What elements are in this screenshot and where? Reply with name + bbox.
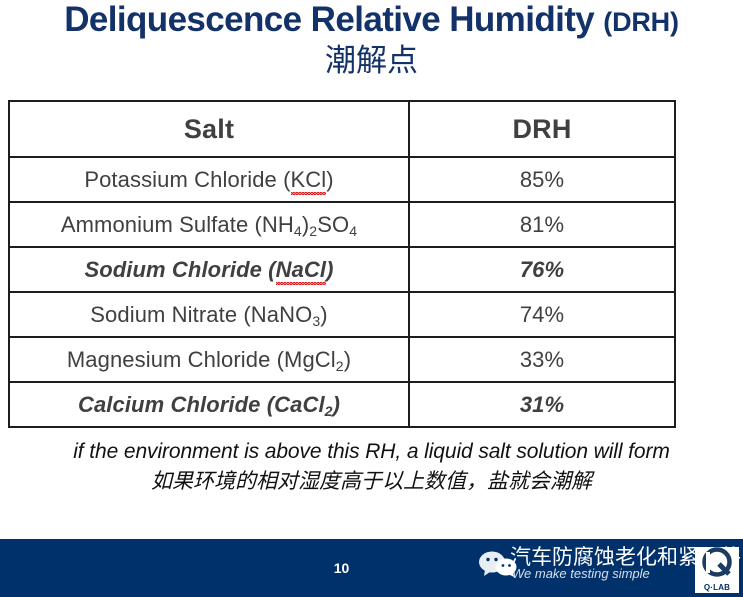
title-block: Deliquescence Relative Humidity (DRH) 潮解… [0, 0, 743, 80]
footer-bar: 10 汽车防腐蚀老化和紧固件 We make testing simple [0, 539, 743, 597]
qlab-logo: Q·LAB [695, 547, 739, 593]
footer-brand: 汽车防腐蚀老化和紧固件 We make testing simple Q·LAB [476, 539, 743, 597]
cell-salt-name: Sodium Chloride (NaCl) [9, 247, 409, 292]
salt-name-text: Potassium Chloride ( [84, 167, 290, 192]
column-header-drh: DRH [409, 101, 675, 157]
table-row: Ammonium Sulfate (NH4)2SO4 81% [9, 202, 675, 247]
salt-name-text: Sodium Chloride ( [84, 257, 275, 282]
caption-english: if the environment is above this RH, a l… [0, 438, 743, 466]
page-title: Deliquescence Relative Humidity (DRH) [0, 0, 743, 42]
cell-salt-name: Potassium Chloride (KCl) [9, 157, 409, 202]
salt-name-suffix: ) [333, 392, 340, 417]
subscript: 2 [325, 402, 333, 418]
salt-name-text: Calcium Chloride (CaCl [78, 392, 325, 417]
salt-name-text: Sodium Nitrate (NaNO [90, 302, 312, 327]
table-row: Potassium Chloride (KCl) 85% [9, 157, 675, 202]
brand-tagline: We make testing simple [512, 567, 650, 581]
salt-name-suffix: ) [344, 347, 351, 372]
table-row: Magnesium Chloride (MgCl2) 33% [9, 337, 675, 382]
page-title-main: Deliquescence Relative Humidity [64, 0, 603, 39]
table-row: Sodium Nitrate (NaNO3) 74% [9, 292, 675, 337]
page-title-abbreviation: (DRH) [603, 7, 678, 37]
page-subtitle-chinese: 潮解点 [0, 42, 743, 80]
table-body: Potassium Chloride (KCl) 85% Ammonium Su… [9, 157, 675, 427]
salt-name-suffix: ) [320, 302, 327, 327]
salt-name-text: Ammonium Sulfate (NH [61, 212, 294, 237]
caption-block: if the environment is above this RH, a l… [0, 438, 743, 496]
cell-salt-name: Ammonium Sulfate (NH4)2SO4 [9, 202, 409, 247]
salt-name-suffix: ) [326, 167, 333, 192]
cell-drh-value: 74% [409, 292, 675, 337]
spellcheck-underlined-formula: KCl [291, 167, 327, 193]
table-header-row: Salt DRH [9, 101, 675, 157]
cell-drh-value: 33% [409, 337, 675, 382]
subscript: 4 [349, 222, 357, 238]
subscript: 4 [294, 222, 302, 238]
cell-salt-name: Magnesium Chloride (MgCl2) [9, 337, 409, 382]
salt-name-suffix: ) [326, 257, 333, 282]
column-header-salt: Salt [9, 101, 409, 157]
drh-table: Salt DRH Potassium Chloride (KCl) 85% Am… [8, 100, 676, 428]
table-header: Salt DRH [9, 101, 675, 157]
cell-drh-value: 76% [409, 247, 675, 292]
spellcheck-underlined-formula: NaCl [276, 257, 327, 283]
qlab-wordmark: Q·LAB [695, 583, 739, 592]
subscript: 2 [336, 357, 344, 373]
table-row: Sodium Chloride (NaCl) 76% [9, 247, 675, 292]
table-row: Calcium Chloride (CaCl2) 31% [9, 382, 675, 427]
cell-drh-value: 85% [409, 157, 675, 202]
cell-drh-value: 81% [409, 202, 675, 247]
salt-name-text: Magnesium Chloride (MgCl [67, 347, 336, 372]
cell-drh-value: 31% [409, 382, 675, 427]
cell-salt-name: Calcium Chloride (CaCl2) [9, 382, 409, 427]
qlab-q-mark-icon [695, 547, 739, 579]
salt-name-text: SO [317, 212, 349, 237]
caption-chinese: 如果环境的相对湿度高于以上数值，盐就会潮解 [0, 466, 743, 496]
cell-salt-name: Sodium Nitrate (NaNO3) [9, 292, 409, 337]
